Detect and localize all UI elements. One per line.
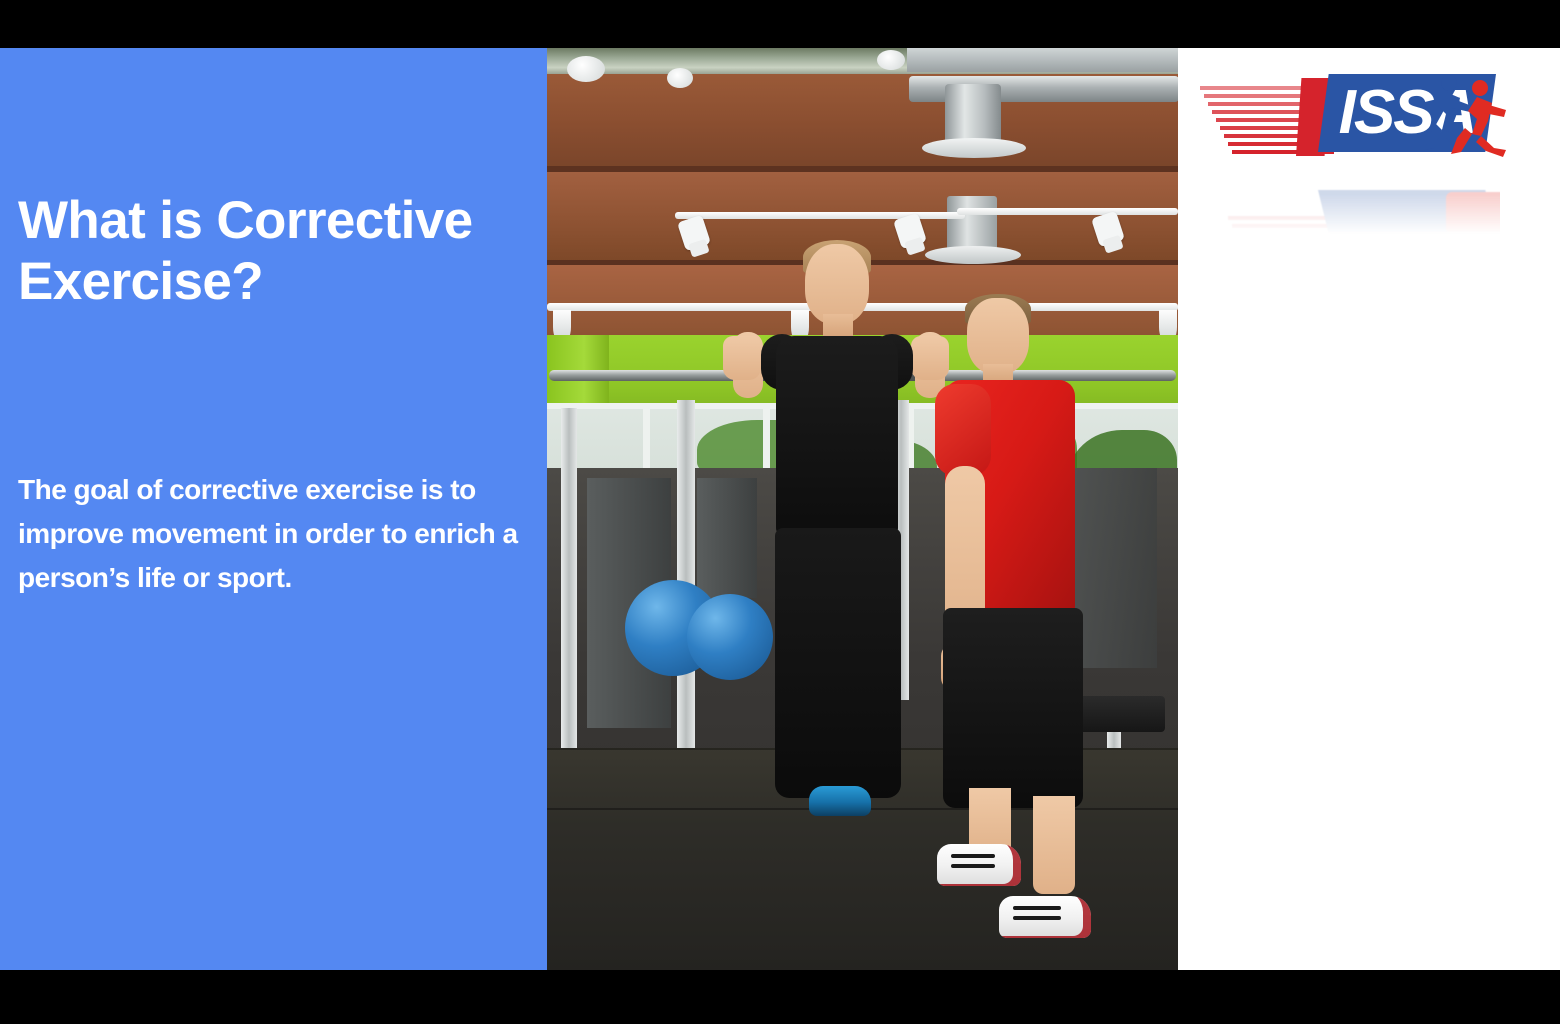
slide-title: What is Corrective Exercise? xyxy=(18,190,528,313)
slide-viewer: What is Corrective Exercise? The goal of… xyxy=(0,0,1560,1024)
hvac-duct-upper xyxy=(907,48,1178,72)
hvac-diffuser-2 xyxy=(925,246,1021,264)
slide-body-text: The goal of corrective exercise is to im… xyxy=(18,468,518,600)
trainer-laces-back-2 xyxy=(951,864,995,868)
hvac-duct-drop-2 xyxy=(947,196,997,252)
trainer-head xyxy=(967,298,1029,374)
letterbox-bottom xyxy=(0,970,1560,1024)
trainer-laces-front xyxy=(1013,906,1061,910)
smith-machine-post-left xyxy=(561,408,577,768)
ceiling-can-light-2 xyxy=(667,68,693,88)
cable-attachment xyxy=(697,478,757,598)
ceiling-can-light xyxy=(567,56,605,82)
runner-figure-red xyxy=(1446,78,1512,160)
lifter-hand-right xyxy=(911,336,949,380)
reflection-speed-line xyxy=(1232,224,1334,228)
lifter-head xyxy=(805,244,869,324)
lifter-track-pants xyxy=(775,528,901,798)
trainer-sleeve xyxy=(935,384,991,476)
trainer-laces-front-2 xyxy=(1013,916,1061,920)
title-panel: What is Corrective Exercise? The goal of… xyxy=(0,48,547,970)
light-track-2 xyxy=(957,208,1178,215)
gym-photo xyxy=(547,48,1178,970)
reflection-speed-line-2 xyxy=(1228,216,1332,220)
trainer-leg-front xyxy=(1033,796,1075,894)
hvac-diffuser xyxy=(922,138,1026,158)
lifter-blue-shoe xyxy=(809,786,871,816)
slide-canvas: What is Corrective Exercise? The goal of… xyxy=(0,48,1560,970)
lifter-tank-top xyxy=(776,336,898,536)
trainer-black-shorts xyxy=(943,608,1083,808)
hvac-duct-drop xyxy=(945,84,1001,144)
stability-ball-2 xyxy=(687,594,773,680)
letterbox-top xyxy=(0,0,1560,48)
trainer-laces-back xyxy=(951,854,995,858)
logo-panel: ISSA xyxy=(1178,48,1560,970)
lifter-hand-left xyxy=(723,336,761,380)
reflection-runner xyxy=(1446,192,1506,234)
light-track-1 xyxy=(675,212,965,219)
ceiling-can-light-3 xyxy=(877,50,905,70)
logo-reflection xyxy=(1200,188,1500,234)
issa-logo: ISSA xyxy=(1200,68,1500,188)
speed-line-1 xyxy=(1200,86,1318,90)
